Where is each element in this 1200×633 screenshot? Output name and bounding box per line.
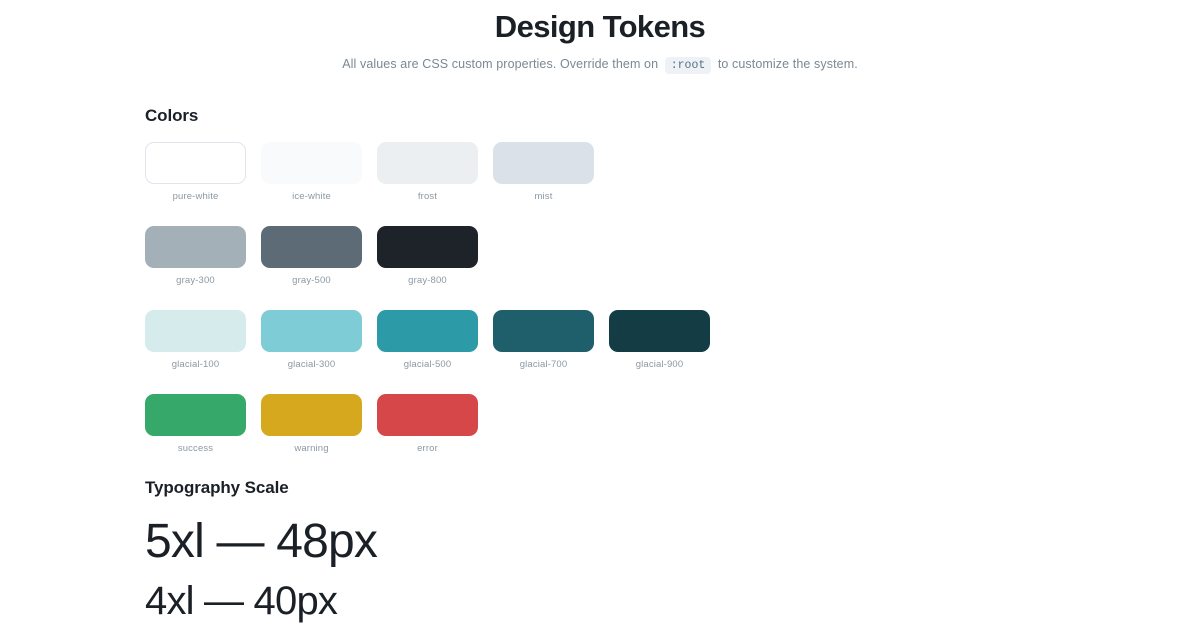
page-title: Design Tokens [0,8,1200,47]
color-swatch-groups: pure-whiteice-whitefrostmistgray-300gray… [145,142,1160,454]
swatch-label: gray-500 [261,275,362,286]
swatch-gray-800[interactable]: gray-800 [377,226,478,286]
swatch-glacial-900[interactable]: glacial-900 [609,310,710,370]
swatch-label: mist [493,191,594,202]
swatch-row-grays: gray-300gray-500gray-800 [145,226,1160,286]
swatch-label: glacial-100 [145,359,246,370]
swatch-label: pure-white [145,191,246,202]
swatch-error[interactable]: error [377,394,478,454]
swatch-color-chip[interactable] [493,142,594,184]
swatch-color-chip[interactable] [377,310,478,352]
swatch-warning[interactable]: warning [261,394,362,454]
swatch-frost[interactable]: frost [377,142,478,202]
swatch-color-chip[interactable] [493,310,594,352]
swatch-ice-white[interactable]: ice-white [261,142,362,202]
swatch-label: success [145,443,246,454]
page-content: Colors pure-whiteice-whitefrostmistgray-… [0,106,1200,633]
colors-section-heading: Colors [145,106,1160,126]
subtitle-text-after: to customize the system. [718,57,858,71]
swatch-label: glacial-500 [377,359,478,370]
root-selector-code-chip: :root [665,57,712,74]
typography-samples: 5xl — 48px4xl — 40px3xl — 32px [145,514,1160,633]
swatch-row-neutrals-light: pure-whiteice-whitefrostmist [145,142,1160,202]
swatch-label: error [377,443,478,454]
swatch-label: warning [261,443,362,454]
swatch-row-semantic: successwarningerror [145,394,1160,454]
swatch-label: glacial-900 [609,359,710,370]
swatch-label: glacial-700 [493,359,594,370]
swatch-label: gray-300 [145,275,246,286]
subtitle-text-before: All values are CSS custom properties. Ov… [342,57,658,71]
swatch-color-chip[interactable] [145,394,246,436]
swatch-glacial-700[interactable]: glacial-700 [493,310,594,370]
swatch-color-chip[interactable] [261,310,362,352]
type-sample-5xl: 5xl — 48px [145,514,1160,571]
swatch-label: ice-white [261,191,362,202]
swatch-glacial-500[interactable]: glacial-500 [377,310,478,370]
typography-section-heading: Typography Scale [145,478,1160,498]
swatch-color-chip[interactable] [145,226,246,268]
swatch-mist[interactable]: mist [493,142,594,202]
swatch-label: frost [377,191,478,202]
page-subtitle: All values are CSS custom properties. Ov… [0,56,1200,74]
swatch-label: glacial-300 [261,359,362,370]
swatch-color-chip[interactable] [261,226,362,268]
typography-section: Typography Scale 5xl — 48px4xl — 40px3xl… [145,478,1160,633]
swatch-color-chip[interactable] [145,310,246,352]
swatch-success[interactable]: success [145,394,246,454]
type-sample-4xl: 4xl — 40px [145,578,1160,625]
swatch-color-chip[interactable] [377,226,478,268]
page-header: Design Tokens All values are CSS custom … [0,0,1200,74]
swatch-glacial-100[interactable]: glacial-100 [145,310,246,370]
swatch-pure-white[interactable]: pure-white [145,142,246,202]
swatch-color-chip[interactable] [377,394,478,436]
swatch-color-chip[interactable] [609,310,710,352]
swatch-gray-300[interactable]: gray-300 [145,226,246,286]
swatch-label: gray-800 [377,275,478,286]
design-tokens-page: Design Tokens All values are CSS custom … [0,0,1200,633]
swatch-glacial-300[interactable]: glacial-300 [261,310,362,370]
swatch-color-chip[interactable] [261,142,362,184]
swatch-gray-500[interactable]: gray-500 [261,226,362,286]
swatch-color-chip[interactable] [145,142,246,184]
swatch-row-glacial: glacial-100glacial-300glacial-500glacial… [145,310,1160,370]
swatch-color-chip[interactable] [261,394,362,436]
swatch-color-chip[interactable] [377,142,478,184]
